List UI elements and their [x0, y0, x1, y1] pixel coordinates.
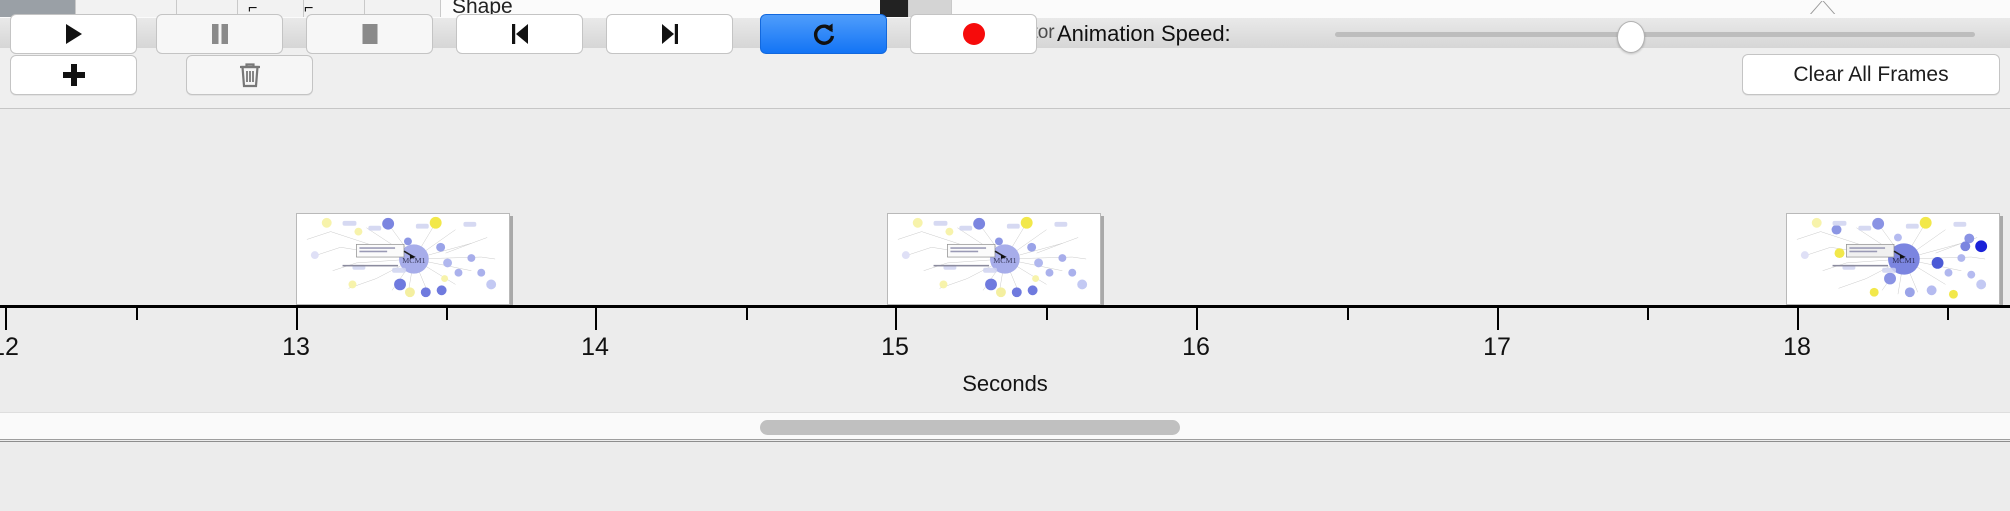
timeline-scrollbar[interactable] [0, 412, 2010, 440]
ruler-tick-minor [746, 308, 748, 320]
ruler-tick-minor [1347, 308, 1349, 320]
play-icon [63, 22, 85, 46]
playback-toolbar [0, 441, 2010, 511]
clear-all-frames-button[interactable]: Clear All Frames [1742, 54, 2000, 95]
ruler-tick-minor [1046, 308, 1048, 320]
ruler-tick-major [1797, 308, 1799, 330]
skip-end-icon [658, 22, 682, 46]
slider-knob[interactable] [1617, 21, 1645, 53]
timeline-ruler[interactable]: 12 13 14 15 16 17 18 Seconds [0, 305, 2010, 410]
ruler-label: 15 [881, 333, 909, 362]
ruler-label: 14 [581, 333, 609, 362]
plus-icon [63, 64, 85, 86]
ruler-label: 17 [1483, 333, 1511, 362]
network-graph-mcm1: MCM1 [297, 214, 509, 304]
scrollbar-thumb[interactable] [760, 420, 1180, 435]
frames-timeline-panel[interactable]: MCM1 [0, 109, 2010, 305]
svg-text:MCM1: MCM1 [1892, 256, 1915, 265]
ruler-tick-minor [1647, 308, 1649, 320]
skip-start-button[interactable] [456, 14, 583, 54]
ruler-tick-minor [1947, 308, 1949, 320]
ruler-tick-minor [446, 308, 448, 320]
frame-thumbnail-2[interactable]: MCM1 [887, 213, 1101, 305]
slider-track[interactable] [1335, 32, 1975, 37]
ruler-baseline [0, 305, 2010, 308]
ruler-tick-major [296, 308, 298, 330]
frame-thumbnail-1[interactable]: MCM1 [296, 213, 510, 305]
network-graph-mcm1: MCM1 [1787, 214, 1999, 304]
trash-icon [237, 61, 263, 89]
animation-speed-slider[interactable] [1335, 14, 1975, 54]
stop-icon [359, 22, 381, 46]
cyanimator-window: ⌐ ⌐ Shape ⟋⟍ CyAnimator Clear All Frames [0, 0, 2010, 510]
play-button[interactable] [10, 14, 137, 54]
ruler-axis-title: Seconds [0, 371, 2010, 397]
delete-frame-button[interactable] [186, 55, 313, 95]
ruler-tick-major [595, 308, 597, 330]
frame-thumbnail-3[interactable]: MCM1 [1786, 213, 2000, 305]
ruler-tick-major [1196, 308, 1198, 330]
record-icon [961, 21, 987, 47]
loop-icon [811, 21, 837, 47]
ruler-tick-minor [136, 308, 138, 320]
ruler-label: 16 [1182, 333, 1210, 362]
record-button[interactable] [910, 14, 1037, 54]
ruler-label: 13 [282, 333, 310, 362]
pause-button[interactable] [156, 14, 283, 54]
ruler-tick-major [895, 308, 897, 330]
add-frame-button[interactable] [10, 55, 137, 95]
animation-speed-label: Animation Speed: [1057, 14, 1231, 54]
ruler-label: 18 [1783, 333, 1811, 362]
ruler-tick-major [5, 308, 7, 330]
svg-text:MCM1: MCM1 [402, 256, 425, 265]
skip-end-button[interactable] [606, 14, 733, 54]
pause-icon [209, 22, 231, 46]
stop-button[interactable] [306, 14, 433, 54]
ruler-label: 12 [0, 333, 19, 362]
ruler-tick-major [1497, 308, 1499, 330]
skip-start-icon [508, 22, 532, 46]
svg-text:MCM1: MCM1 [993, 256, 1016, 265]
network-graph-mcm1: MCM1 [888, 214, 1100, 304]
loop-button[interactable] [760, 14, 887, 54]
